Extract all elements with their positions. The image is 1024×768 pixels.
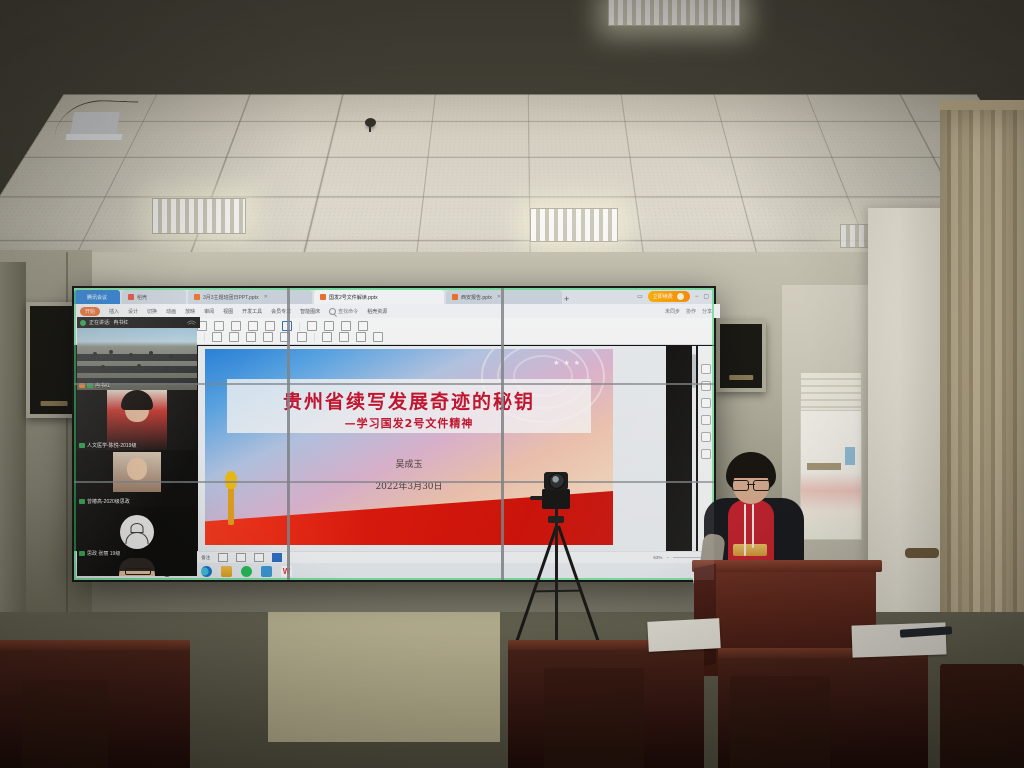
zoom-out-button[interactable]: −: [666, 555, 669, 560]
justify-icon[interactable]: [263, 332, 273, 342]
participant-name-row: 人文医学-陈悦-2019级: [79, 442, 136, 449]
stars-decoration: ★ ★ ★: [553, 359, 581, 367]
slide-title: 贵州省续写发展奇迹的秘钥: [205, 387, 613, 414]
torch-flame: [225, 471, 237, 489]
ribbon-tab-developer[interactable]: 开发工具: [242, 308, 262, 315]
ceiling-light-panel-top: [608, 0, 740, 26]
sync-status-label[interactable]: 未同步: [665, 308, 680, 315]
avatar[interactable]: [676, 292, 685, 301]
align-left-icon[interactable]: [212, 332, 222, 342]
classroom-student: [165, 366, 169, 370]
slide-author: 吴成玉: [205, 457, 613, 470]
search-icon: [329, 308, 336, 315]
classroom-student: [169, 354, 173, 358]
notes-label[interactable]: 备注: [201, 555, 210, 561]
new-tab-button[interactable]: +: [564, 295, 569, 304]
arrange-icon[interactable]: [322, 332, 332, 342]
video-wall-display[interactable]: 腾讯会议 稻壳 3月3主题班团日PPT.pptx ✕ 国发2号文件解读.pptx…: [72, 286, 716, 582]
tab-dockhull[interactable]: 稻壳: [122, 290, 186, 304]
tab-label: 稻壳: [137, 294, 147, 301]
ceiling-light-panel-center: [530, 208, 618, 242]
ribbon-tab-animation[interactable]: 动画: [166, 308, 176, 315]
ribbon-tab-bar[interactable]: 开始 插入 设计 切换 动画 放映 审阅 视图 开发工具 会员专享 智能图床 查…: [74, 304, 720, 318]
chair-back: [544, 668, 644, 768]
quick-style-icon[interactable]: [282, 321, 292, 331]
align-icon[interactable]: [214, 321, 224, 331]
classroom-student: [109, 350, 113, 354]
slide-subtitle: —学习国发2号文件精神: [205, 415, 613, 431]
microphone-icon: [79, 551, 85, 556]
classroom-student: [101, 365, 105, 369]
collaborate-button[interactable]: 协作: [686, 308, 696, 315]
tab-xian-report[interactable]: 西安报告.pptx ✕: [446, 290, 562, 304]
classroom-student: [137, 364, 141, 368]
history-icon[interactable]: [701, 415, 711, 425]
paper-on-desk: [647, 618, 720, 652]
wps-favicon-icon: [128, 294, 134, 300]
view-sorter-button[interactable]: [236, 553, 246, 562]
torch-monument-icon: [223, 471, 239, 523]
ribbon-tab-start[interactable]: 开始: [80, 307, 100, 316]
chair-back: [940, 664, 1024, 768]
view-normal-button[interactable]: [218, 553, 228, 562]
active-speaker-bar: 正在讲话: 冉书红: [77, 317, 200, 328]
participant-name: 曾椿高-2020级思政: [87, 498, 130, 505]
tab-guofa-document[interactable]: 国发2号文件解读.pptx: [314, 290, 444, 304]
tab-tencent-meeting[interactable]: 腾讯会议: [74, 290, 120, 304]
view-reading-button[interactable]: [254, 553, 264, 562]
align-center-icon[interactable]: [229, 332, 239, 342]
podium-top: [692, 560, 882, 572]
tab-label: 3月3主题班团日PPT.pptx: [203, 294, 259, 301]
divider: [204, 333, 205, 342]
ribbon-tab-review[interactable]: 审阅: [204, 308, 214, 315]
ribbon-tab-transition[interactable]: 切换: [147, 308, 157, 315]
tab-march-class-ppt[interactable]: 3月3主题班团日PPT.pptx ✕: [188, 290, 312, 304]
classroom-camera-feed: [77, 328, 197, 390]
speaking-prefix: 正在讲话:: [89, 319, 110, 326]
microphone-icon: [79, 443, 85, 448]
ribbon-search[interactable]: 查找命令: [329, 308, 358, 315]
slide-scrollbar-thumb[interactable]: [692, 354, 696, 388]
ribbon-tab-design[interactable]: 设计: [128, 308, 138, 315]
classroom-student: [149, 351, 153, 355]
camera-body: [542, 489, 570, 509]
camera-lens-icon: [549, 473, 565, 489]
participant-tile-chenyue[interactable]: 人文医学-陈悦-2019级: [77, 390, 197, 450]
ribbon-tab-slideshow[interactable]: 放映: [185, 308, 195, 315]
textbox-icon[interactable]: [307, 321, 317, 331]
tab-label: 腾讯会议: [87, 294, 107, 301]
wall-poster: [800, 410, 862, 540]
avatar: [120, 515, 154, 549]
hoodie-graphic: [733, 544, 767, 556]
slide-canvas-area[interactable]: ★ ★ ★ 贵州省续写发展奇迹的秘钥 —学习国发2号文件精神 吴成玉 2022年…: [198, 346, 666, 560]
participant-tile-zhangli[interactable]: 思政 张丽 19级: [77, 506, 197, 558]
participant-tile-classroom[interactable]: 冉书红: [77, 328, 197, 390]
green-app-icon[interactable]: [241, 566, 252, 577]
replace-icon[interactable]: [373, 332, 383, 342]
divider: [314, 333, 315, 342]
fill-icon[interactable]: [339, 332, 349, 342]
text-direction-icon[interactable]: [297, 332, 307, 342]
laptop-screen: [70, 112, 120, 136]
participant-name-row: 思政 张丽 19级: [79, 550, 120, 557]
participant-name: 冉书红: [95, 382, 110, 389]
meeting-participant-panel[interactable]: 正在讲话: 冉书红: [77, 317, 197, 576]
glasses-icon: [732, 480, 770, 489]
file-explorer-icon[interactable]: [221, 566, 232, 577]
indent-icon[interactable]: [248, 321, 258, 331]
ribbon-right-actions[interactable]: 未同步 协作 分享: [665, 308, 720, 315]
ribbon-tab-member[interactable]: 会员专享: [271, 308, 291, 315]
reading-mode-icon[interactable]: ▭: [637, 293, 643, 300]
chair-back: [22, 680, 108, 768]
linespacing-icon[interactable]: [265, 321, 275, 331]
ribbon-help-resources[interactable]: 稻壳资源: [367, 308, 387, 315]
view-slideshow-button[interactable]: [272, 553, 282, 562]
ppt-favicon-icon: [452, 294, 458, 300]
ribbon-tab-view[interactable]: 视图: [223, 308, 233, 315]
browser-tab-strip[interactable]: 腾讯会议 稻壳 3月3主题班团日PPT.pptx ✕ 国发2号文件解读.pptx…: [74, 288, 714, 304]
close-icon[interactable]: ✕: [264, 294, 268, 300]
minimize-icon[interactable]: −: [695, 294, 699, 300]
participant-tile-extra[interactable]: [77, 558, 197, 576]
chair-back: [730, 676, 830, 768]
participant-tile-zengchungao[interactable]: 曾椿高-2020级思政: [77, 450, 197, 506]
member-upgrade-button[interactable]: 立即续费: [648, 291, 690, 302]
participant-name: 思政 张丽 19级: [87, 550, 120, 557]
participant-name-row: 曾椿高-2020级思政: [79, 498, 130, 505]
signal-icon: [186, 319, 197, 326]
member-pill-label: 立即续费: [653, 293, 673, 300]
microphone-icon: [87, 383, 93, 388]
camera-pan-handle: [530, 496, 543, 500]
classroom-student: [129, 353, 133, 357]
avatar-glasses-icon: [125, 568, 151, 575]
cloud-icon[interactable]: [701, 432, 711, 442]
divider: [299, 322, 300, 331]
edge-icon[interactable]: [201, 566, 212, 577]
window-controls[interactable]: ▭ 立即续费 − ▢: [637, 291, 714, 304]
participant-face: [127, 458, 147, 480]
hoodie-drawstring: [744, 504, 746, 556]
tripod-collar: [548, 516, 564, 523]
classroom-student: [93, 352, 97, 356]
align-right-icon[interactable]: [246, 332, 256, 342]
search-placeholder: 查找命令: [338, 308, 358, 315]
find-icon[interactable]: [341, 321, 351, 331]
tripod-spreader: [534, 590, 580, 593]
columns-icon[interactable]: [280, 332, 290, 342]
select-icon[interactable]: [358, 321, 368, 331]
design-ideas-icon[interactable]: [701, 381, 711, 391]
wall-speaker-right: [716, 320, 766, 392]
ceiling-light-panel-left: [152, 198, 246, 234]
laptop-base: [66, 134, 123, 140]
ppt-favicon-icon: [320, 294, 326, 300]
torch-stick: [228, 485, 234, 525]
participant-name-row: 冉书红: [79, 382, 110, 389]
ribbon-tab-insert[interactable]: 插入: [109, 308, 119, 315]
tab-label: 西安报告.pptx: [461, 294, 492, 301]
pane-toggle-icon[interactable]: [701, 364, 711, 374]
resources-icon[interactable]: [701, 398, 711, 408]
speaking-name: 冉书红: [113, 319, 128, 326]
zoom-value[interactable]: 63%: [653, 555, 662, 560]
smoke-detector-icon: [365, 118, 376, 127]
ribbon-tab-image-bed[interactable]: 智能图床: [300, 308, 320, 315]
wechat-icon[interactable]: [261, 566, 272, 577]
ppt-favicon-icon: [194, 294, 200, 300]
presenter-fringe: [728, 462, 775, 478]
tab-label: 国发2号文件解读.pptx: [329, 294, 378, 301]
foreground-desks: [0, 598, 1024, 768]
microphone-icon: [79, 499, 85, 504]
share-button[interactable]: 分享: [702, 308, 712, 315]
raise-hand-icon: [79, 383, 85, 388]
maximize-icon[interactable]: ▢: [703, 293, 709, 300]
lecture-hall-photo: 腾讯会议 稻壳 3月3主题班团日PPT.pptx ✕ 国发2号文件解读.pptx…: [0, 0, 1024, 768]
podium-laptop: [66, 112, 118, 142]
curtain-tieback: [905, 548, 939, 558]
participant-name: 人文医学-陈悦-2019级: [87, 442, 136, 449]
close-icon[interactable]: ✕: [497, 294, 501, 300]
picture-icon[interactable]: [324, 321, 334, 331]
wps-icon[interactable]: W: [281, 566, 292, 577]
microphone-icon: [80, 320, 86, 326]
list-icon[interactable]: [231, 321, 241, 331]
hoodie-drawstring: [752, 504, 754, 548]
outline-icon[interactable]: [356, 332, 366, 342]
